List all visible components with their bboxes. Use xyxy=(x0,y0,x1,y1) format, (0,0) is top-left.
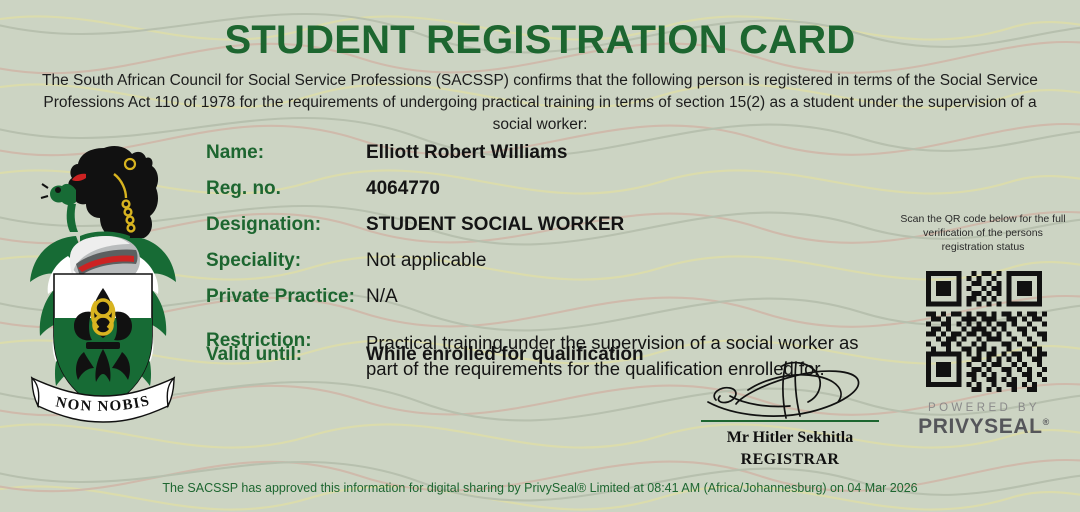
field-row-speciality: Speciality: Not applicable xyxy=(206,250,906,286)
qr-code[interactable] xyxy=(908,266,1060,392)
field-value-speciality: Not applicable xyxy=(366,250,486,272)
field-label-reg-no: Reg. no. xyxy=(206,178,281,200)
field-row-designation: Designation: STUDENT SOCIAL WORKER xyxy=(206,214,906,250)
field-value-valid-until: While enrolled for qualification xyxy=(366,344,644,366)
privyseal-name: PRIVYSEAL xyxy=(918,415,1042,438)
privyseal-wordmark: PRIVYSEAL® xyxy=(908,415,1060,439)
signature-mark xyxy=(690,360,890,420)
shield xyxy=(54,274,152,408)
lion-crest xyxy=(41,146,158,248)
details-list: Name: Elliott Robert Williams Reg. no. 4… xyxy=(206,142,906,380)
field-value-reg-no: 4064770 xyxy=(366,178,440,200)
field-row-name: Name: Elliott Robert Williams xyxy=(206,142,906,178)
privyseal-branding: POWERED BY PRIVYSEAL® xyxy=(908,402,1060,439)
student-registration-card: STUDENT REGISTRATION CARD The South Afri… xyxy=(0,0,1080,512)
powered-by-label: POWERED BY xyxy=(908,402,1060,414)
signature-block: Mr Hitler Sekhitla REGISTRAR xyxy=(690,360,890,469)
field-label-valid-until: Valid until: xyxy=(206,344,302,366)
registrar-role: REGISTRAR xyxy=(690,451,890,469)
field-value-name: Elliott Robert Williams xyxy=(366,142,567,164)
coat-of-arms-emblem: NON NOBIS xyxy=(18,140,188,425)
intro-paragraph: The South African Council for Social Ser… xyxy=(28,70,1052,136)
field-label-name: Name: xyxy=(206,142,264,164)
field-label-private-practice: Private Practice: xyxy=(206,286,355,308)
lion-held-charge xyxy=(41,184,78,232)
page-title: STUDENT REGISTRATION CARD xyxy=(0,18,1080,62)
qr-instruction-text: Scan the QR code below for the full veri… xyxy=(898,212,1068,255)
field-label-designation: Designation: xyxy=(206,214,321,236)
field-row-reg-no: Reg. no. 4064770 xyxy=(206,178,906,214)
field-value-private-practice: N/A xyxy=(366,286,398,308)
field-label-speciality: Speciality: xyxy=(206,250,301,272)
registrar-name: Mr Hitler Sekhitla xyxy=(690,429,890,447)
field-value-designation: STUDENT SOCIAL WORKER xyxy=(366,214,624,236)
approval-footer: The SACSSP has approved this information… xyxy=(0,481,1080,495)
registered-mark: ® xyxy=(1043,417,1050,427)
field-row-private-practice: Private Practice: N/A xyxy=(206,286,906,322)
